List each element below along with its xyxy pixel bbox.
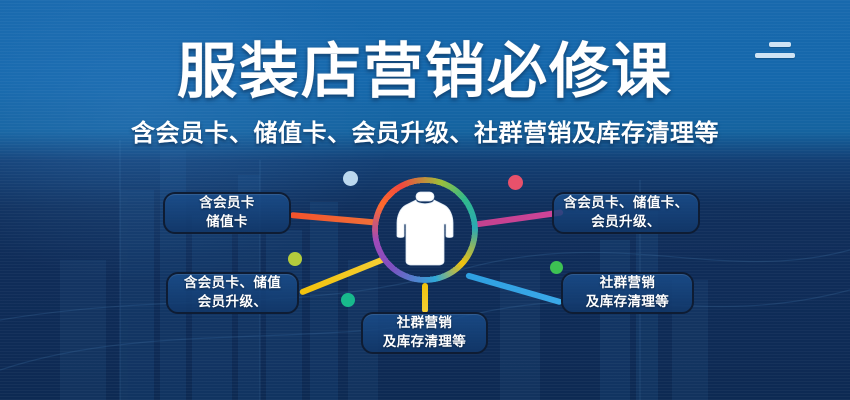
connector-line-bottom-center	[422, 283, 428, 313]
headline-block: 服装店营销必修课 含会员卡、储值卡、会员升级、社群营销及库存清理等	[0, 40, 850, 148]
callout-box-bottom-center[interactable]: 社群营销 及库存清理等	[361, 312, 488, 354]
callout-line-1: 含会员卡、储值卡、	[563, 194, 688, 213]
decorative-dot-green-icon	[550, 261, 563, 274]
callout-box-top-left[interactable]: 含会员卡 储值卡	[163, 192, 291, 234]
marketing-banner: 服装店营销必修课 含会员卡、储值卡、会员升级、社群营销及库存清理等 含会员卡 储…	[0, 0, 850, 400]
page-subtitle: 含会员卡、储值卡、会员升级、社群营销及库存清理等	[0, 113, 850, 148]
callout-line-1: 社群营销	[397, 314, 453, 333]
callout-line-2: 储值卡	[206, 213, 248, 232]
decorative-dot-light-blue-icon	[343, 171, 358, 186]
decorative-dash-lower-icon	[755, 53, 795, 58]
page-title: 服装店营销必修课	[0, 40, 850, 105]
connector-line-top-right	[472, 209, 564, 228]
callout-line-2: 会员升级、	[198, 293, 268, 312]
callout-line-1: 含会员卡	[199, 194, 255, 213]
connector-line-top-left	[290, 212, 378, 226]
callout-box-bottom-left[interactable]: 含会员卡、储值 会员升级、	[166, 272, 299, 314]
decorative-dot-teal-icon	[341, 293, 355, 307]
decorative-dot-olive-icon	[288, 252, 302, 266]
callout-line-1: 社群营销	[600, 274, 656, 293]
callout-line-2: 及库存清理等	[383, 333, 466, 352]
callout-line-1: 含会员卡、储值	[184, 274, 281, 293]
decorative-dot-pink-icon	[508, 175, 523, 190]
connector-line-bottom-left	[299, 256, 387, 296]
sweater-icon	[396, 190, 454, 268]
callout-box-top-right[interactable]: 含会员卡、储值卡、 会员升级、	[552, 192, 700, 234]
callout-line-2: 及库存清理等	[586, 293, 669, 312]
decorative-dash-upper-icon	[769, 42, 791, 47]
callout-line-2: 会员升级、	[591, 213, 661, 232]
callout-box-bottom-right[interactable]: 社群营销 及库存清理等	[561, 272, 694, 314]
connector-line-bottom-right	[465, 272, 563, 305]
